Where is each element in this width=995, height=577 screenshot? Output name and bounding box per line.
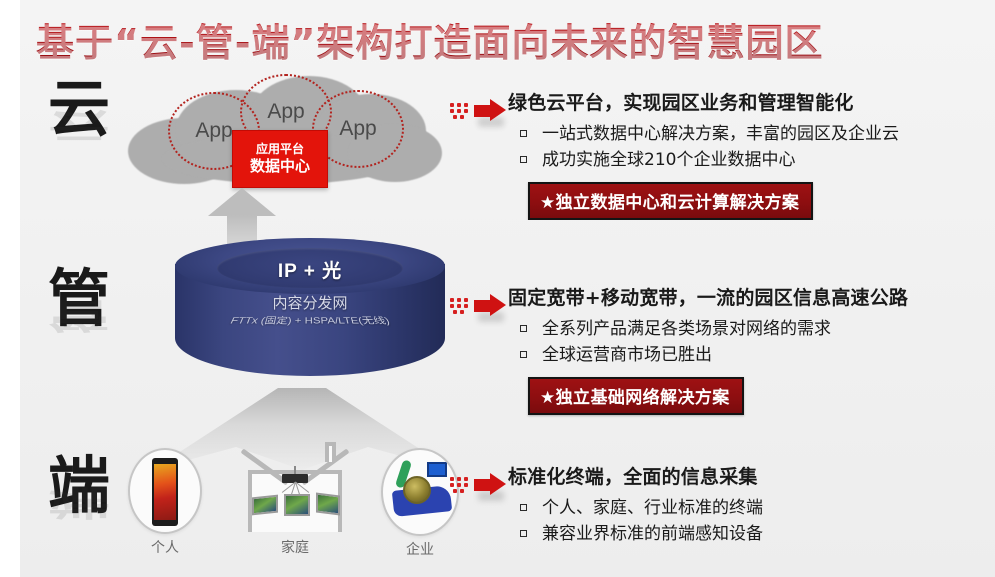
content-block-device-title: 标准化终端，全面的信息采集 xyxy=(508,462,995,489)
red-arrow-icon xyxy=(450,100,508,130)
square-bullet-icon xyxy=(520,351,527,358)
phone-screen xyxy=(154,464,176,520)
arrow-dots xyxy=(450,477,474,493)
arrow-head xyxy=(490,294,506,316)
house-chimney xyxy=(325,442,336,462)
content-block-device-bullets: 个人、家庭、行业标准的终端 兼容业界标准的前端感知设备 xyxy=(450,495,995,548)
layer-label-device: 端 xyxy=(36,455,122,517)
data-center-box-line2: 数据中心 xyxy=(250,157,310,177)
up-arrow-head xyxy=(208,188,276,216)
arrow-head xyxy=(490,473,506,495)
arrow-dots xyxy=(450,103,474,119)
list-item: 成功实施全球210个企业数据中心 xyxy=(542,147,995,173)
list-item: 一站式数据中心解决方案，丰富的园区及企业云 xyxy=(542,121,995,147)
list-item: 个人、家庭、行业标准的终端 xyxy=(542,495,995,521)
phone-body xyxy=(152,458,178,526)
content-block-pipe-bullets: 全系列产品满足各类场景对网络的需求 全球运营商市场已胜出 xyxy=(450,316,995,369)
cylinder-label-access: FTTx (固定) + HSPA/LTE(无线) xyxy=(153,314,467,327)
arrow-dots xyxy=(450,298,474,314)
content-block-cloud-bullets: 一站式数据中心解决方案，丰富的园区及企业云 成功实施全球210个企业数据中心 xyxy=(450,121,995,174)
list-item: 兼容业界标准的前端感知设备 xyxy=(542,521,995,547)
content-block-pipe-head: 固定宽带+移动宽带，一流的园区信息高速公路 xyxy=(450,283,995,310)
device-label-home: 家庭 xyxy=(230,537,360,557)
slide-canvas: 基于“云-管-端”架构打造面向未来的智慧园区 基于“云-管-端”架构打造面向未来… xyxy=(20,0,995,577)
data-center-box: 应用平台 数据中心 xyxy=(232,130,328,188)
page-title: 基于“云-管-端”架构打造面向未来的智慧园区 xyxy=(36,12,976,67)
device-node-personal: 个人 xyxy=(122,448,208,557)
content-block-device-head: 标准化终端，全面的信息采集 xyxy=(450,462,995,489)
content-block-cloud: 绿色云平台，实现园区业务和管理智能化 一站式数据中心解决方案，丰富的园区及企业云… xyxy=(450,88,995,220)
laptop-icon xyxy=(252,495,278,516)
tv-icon xyxy=(284,494,310,516)
content-block-pipe: 固定宽带+移动宽带，一流的园区信息高速公路 全系列产品满足各类场景对网络的需求 … xyxy=(450,283,995,415)
content-block-pipe-title: 固定宽带+移动宽带，一流的园区信息高速公路 xyxy=(508,283,995,310)
list-item-text: 兼容业界标准的前端感知设备 xyxy=(542,524,763,544)
list-item-text: 个人、家庭、行业标准的终端 xyxy=(542,498,763,518)
slide-root: 基于“云-管-端”架构打造面向未来的智慧园区 基于“云-管-端”架构打造面向未来… xyxy=(0,0,995,577)
list-item: 全球运营商市场已胜出 xyxy=(542,342,995,368)
list-item-text: 全球运营商市场已胜出 xyxy=(542,345,712,365)
highlight-box-pipe: ★独立基础网络解决方案 xyxy=(528,377,744,415)
list-item-text: 全系列产品满足各类场景对网络的需求 xyxy=(542,319,831,339)
data-center-box-line1: 应用平台 xyxy=(256,141,304,157)
layer-label-cloud: 云 xyxy=(36,78,122,140)
highlight-box-cloud: ★独立数据中心和云计算解决方案 xyxy=(528,182,813,220)
list-item: 全系列产品满足各类场景对网络的需求 xyxy=(542,316,995,342)
network-cylinder-graphic: IP + 光 内容分发网 FTTx (固定) + HSPA/LTE(无线) xyxy=(165,238,455,398)
content-block-cloud-head: 绿色云平台，实现园区业务和管理智能化 xyxy=(450,88,995,115)
tablet-icon xyxy=(316,493,340,516)
smart-meter-icon xyxy=(381,448,459,536)
cylinder-label-ip: IP + 光 xyxy=(165,256,455,283)
layer-label-pipe: 管 xyxy=(36,268,122,330)
device-label-personal: 个人 xyxy=(122,537,208,557)
square-bullet-icon xyxy=(520,530,527,537)
device-node-home: 家庭 xyxy=(230,440,360,557)
meter-dial xyxy=(403,476,431,504)
red-arrow-icon xyxy=(450,295,508,325)
red-arrow-icon xyxy=(450,474,508,504)
square-bullet-icon xyxy=(520,325,527,332)
square-bullet-icon xyxy=(520,130,527,137)
square-bullet-icon xyxy=(520,504,527,511)
house-devices-icon xyxy=(236,440,354,534)
cloud-graphic: App App App 应用平台 数据中心 xyxy=(120,72,450,200)
smartphone-icon xyxy=(128,448,202,534)
meter-blue-part xyxy=(427,462,447,477)
list-item-text: 一站式数据中心解决方案，丰富的园区及企业云 xyxy=(542,124,899,144)
list-item-text: 成功实施全球210个企业数据中心 xyxy=(542,150,795,170)
cylinder-label-cdn: 内容分发网 xyxy=(165,292,455,313)
content-block-device: 标准化终端，全面的信息采集 个人、家庭、行业标准的终端 兼容业界标准的前端感知设… xyxy=(450,462,995,548)
square-bullet-icon xyxy=(520,156,527,163)
arrow-head xyxy=(490,99,506,121)
content-block-cloud-title: 绿色云平台，实现园区业务和管理智能化 xyxy=(508,88,995,115)
